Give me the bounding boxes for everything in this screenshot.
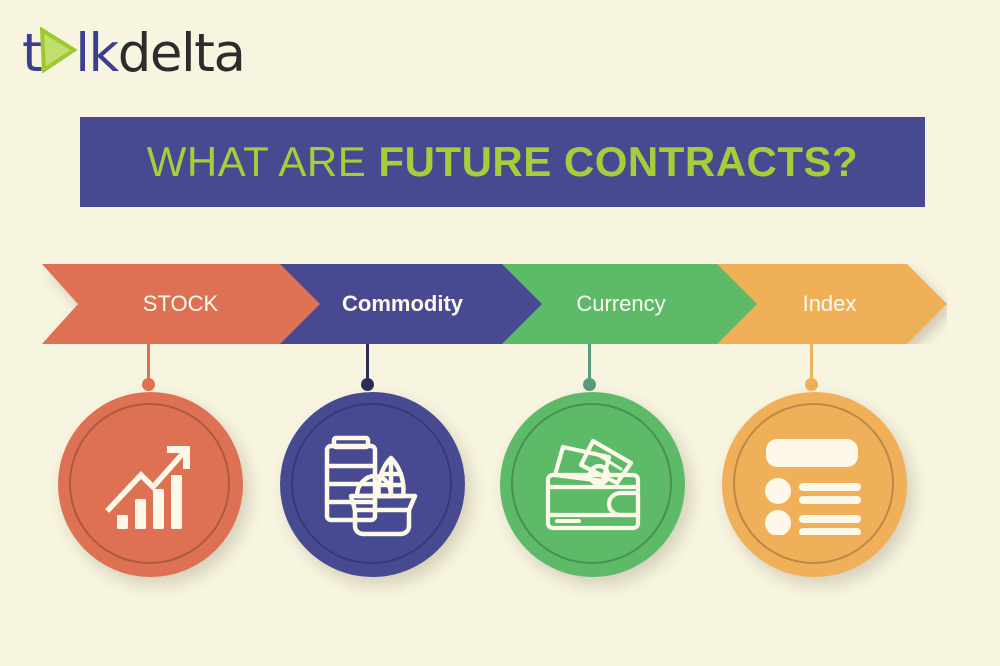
growth-chart-icon — [58, 392, 243, 577]
node-index[interactable] — [722, 392, 907, 577]
chevron-label-stock[interactable]: STOCK — [78, 264, 283, 344]
node-currency[interactable] — [500, 392, 685, 577]
page-title: WHAT ARE FUTURE CONTRACTS? — [147, 138, 858, 186]
logo-letters-lk: lk — [75, 27, 117, 80]
brand-logo-wordmark: t lk delta — [22, 25, 244, 80]
node-stock[interactable] — [58, 392, 243, 577]
page-title-light: WHAT ARE — [147, 138, 379, 185]
title-banner: WHAT ARE FUTURE CONTRACTS? — [80, 117, 925, 207]
chevron-label-commodity[interactable]: Commodity — [300, 264, 505, 344]
list-index-icon — [722, 392, 907, 577]
node-commodity[interactable] — [280, 392, 465, 577]
connector-dot-index — [805, 378, 818, 391]
brand-logo: t lk delta — [22, 22, 244, 82]
connector-dot-stock — [142, 378, 155, 391]
connector-commodity — [366, 344, 369, 384]
connector-stock — [147, 344, 150, 384]
chevron-label-index-text: Index — [803, 291, 857, 317]
connector-index — [810, 344, 813, 384]
chevron-label-commodity-text: Commodity — [342, 291, 463, 317]
logo-letters-delta: delta — [118, 27, 245, 80]
oil-barrel-and-grain-sack-icon — [280, 392, 465, 577]
play-triangle-icon — [37, 27, 77, 73]
connector-dot-currency — [583, 378, 596, 391]
chevron-label-currency[interactable]: Currency — [522, 264, 720, 344]
chevron-label-currency-text: Currency — [576, 291, 665, 317]
wallet-with-banknotes-icon — [500, 392, 685, 577]
connector-currency — [588, 344, 591, 384]
infographic-canvas: t lk delta WHAT ARE FUTURE CONTRACTS? — [0, 0, 1000, 666]
chevron-label-index[interactable]: Index — [737, 264, 922, 344]
chevron-label-stock-text: STOCK — [143, 291, 218, 317]
chevron-ribbon: STOCK Commodity Currency Index — [42, 264, 947, 344]
page-title-bold: FUTURE CONTRACTS? — [378, 138, 858, 185]
connector-dot-commodity — [361, 378, 374, 391]
